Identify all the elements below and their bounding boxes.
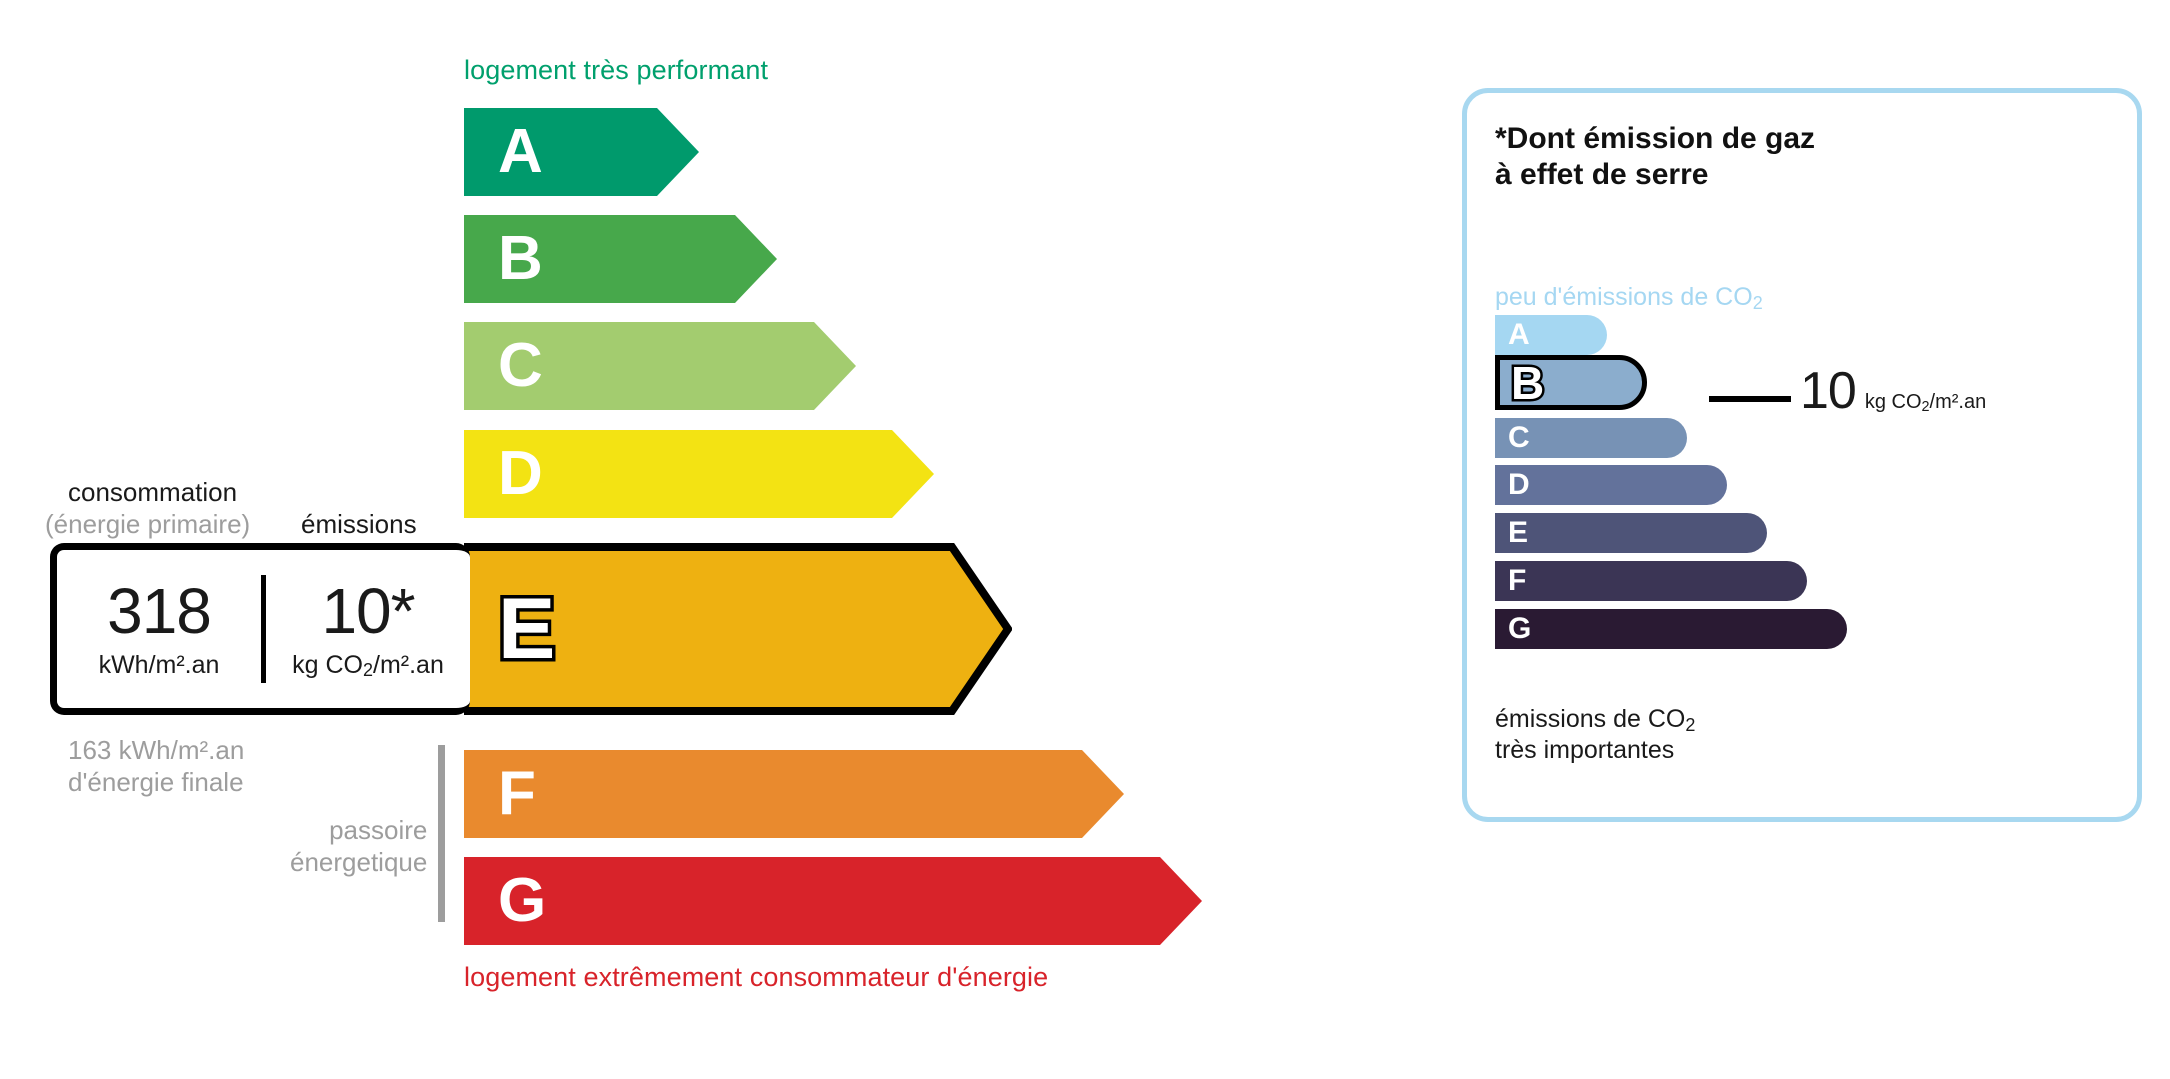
energy-class-letter-a: A: [498, 121, 543, 183]
co2-bottom-line2: très importantes: [1495, 735, 1695, 766]
passoire-rule: [438, 745, 445, 922]
passoire-line2: énergetique: [290, 847, 427, 879]
co2-class-letter-c: C: [1508, 423, 1530, 453]
co2-bar-b: B: [1495, 355, 1647, 410]
energy-bar-c: C: [464, 322, 856, 410]
energy-arrow-fill: [464, 857, 1202, 945]
co2-callout-unit: kg CO2/m².an: [1865, 391, 1986, 414]
final-energy-line1: 163 kWh/m².an: [68, 735, 244, 767]
co2-bar-d: D: [1495, 465, 1727, 505]
final-energy-line2: d'énergie finale: [68, 767, 244, 799]
co2-bar-fill-g: G: [1495, 609, 1847, 649]
co2-bar-fill-f: F: [1495, 561, 1807, 601]
co2-title-line2: à effet de serre: [1495, 157, 1815, 193]
energy-bar-a: A: [464, 108, 699, 196]
emission-unit: kg CO2/m².an: [292, 651, 444, 680]
emission-cell: 10* kg CO2/m².an: [266, 579, 470, 680]
co2-bottom-line1: émissions de CO2: [1495, 704, 1695, 735]
passoire-note: passoire énergetique: [290, 815, 427, 878]
energy-class-letter-d: D: [498, 443, 543, 505]
co2-class-letter-d: D: [1508, 470, 1530, 500]
energy-arrow-shape-d: D: [464, 430, 934, 518]
energy-scale-panel: logement très performant ABCDEFG consomm…: [0, 0, 1400, 1079]
energy-bar-g: G: [464, 857, 1202, 945]
co2-bar-fill-a: A: [1495, 315, 1607, 355]
co2-panel: *Dont émission de gaz à effet de serre p…: [1462, 88, 2142, 822]
consumption-unit: kWh/m².an: [99, 651, 220, 680]
co2-bar-c: C: [1495, 418, 1687, 458]
co2-callout-leader-line: [1709, 396, 1791, 402]
value-box: 318 kWh/m².an 10* kg CO2/m².an: [50, 543, 470, 715]
consumption-cell: 318 kWh/m².an: [57, 579, 261, 680]
dpe-label: logement très performant ABCDEFG consomm…: [0, 0, 2170, 1079]
co2-class-letter-b: B: [1511, 360, 1544, 406]
energy-arrow-shape-c: C: [464, 322, 856, 410]
co2-bar-fill-b: B: [1495, 355, 1647, 410]
energy-arrow-fill: [464, 750, 1124, 838]
energy-arrow-shape-f: F: [464, 750, 1124, 838]
co2-callout: 10 kg CO2/m².an: [1800, 365, 1986, 417]
emissions-header: émissions: [301, 509, 417, 540]
energy-bottom-caption: logement extrêmement consommateur d'éner…: [464, 962, 1048, 993]
final-energy-note: 163 kWh/m².an d'énergie finale: [68, 735, 244, 798]
co2-subscript: 2: [363, 660, 373, 680]
co2-bar-a: A: [1495, 315, 1607, 355]
emission-value: 10*: [321, 579, 414, 643]
energy-bar-f: F: [464, 750, 1124, 838]
energy-bar-e: E: [464, 543, 1012, 715]
consumption-value: 318: [107, 579, 211, 643]
co2-bar-fill-e: E: [1495, 513, 1767, 553]
co2-title-line1: *Dont émission de gaz: [1495, 121, 1815, 157]
co2-bottom-caption: émissions de CO2 très importantes: [1495, 704, 1695, 765]
co2-bar-fill-c: C: [1495, 418, 1687, 458]
co2-bar-g: G: [1495, 609, 1847, 649]
co2-class-letter-f: F: [1508, 566, 1526, 596]
co2-panel-title: *Dont émission de gaz à effet de serre: [1495, 121, 1815, 193]
co2-class-letter-g: G: [1508, 614, 1531, 644]
consumption-subheader: (énergie primaire): [45, 509, 250, 540]
co2-class-letter-e: E: [1508, 518, 1528, 548]
energy-class-letter-b: B: [498, 228, 543, 290]
co2-subscript-bottom: 2: [1685, 715, 1695, 735]
energy-arrow-shape-e: E: [464, 543, 1012, 715]
co2-subscript-callout: 2: [1922, 399, 1930, 415]
energy-arrow-shape-g: G: [464, 857, 1202, 945]
co2-top-caption: peu d'émissions de CO2: [1495, 283, 1763, 312]
co2-bar-e: E: [1495, 513, 1767, 553]
consumption-header: consommation: [68, 477, 237, 508]
energy-class-letter-e: E: [498, 586, 555, 672]
energy-class-letter-f: F: [498, 763, 536, 825]
co2-bar-fill-d: D: [1495, 465, 1727, 505]
co2-bar-f: F: [1495, 561, 1807, 601]
co2-callout-value-number: 10: [1800, 365, 1856, 417]
energy-top-caption: logement très performant: [464, 55, 768, 86]
energy-class-letter-c: C: [498, 335, 543, 397]
energy-bar-d: D: [464, 430, 934, 518]
co2-subscript-top: 2: [1753, 293, 1763, 313]
energy-arrow-shape-a: A: [464, 108, 699, 196]
energy-class-letter-g: G: [498, 870, 546, 932]
energy-bar-b: B: [464, 215, 777, 303]
passoire-line1: passoire: [290, 815, 427, 847]
co2-class-letter-a: A: [1508, 320, 1530, 350]
energy-arrow-shape-b: B: [464, 215, 777, 303]
